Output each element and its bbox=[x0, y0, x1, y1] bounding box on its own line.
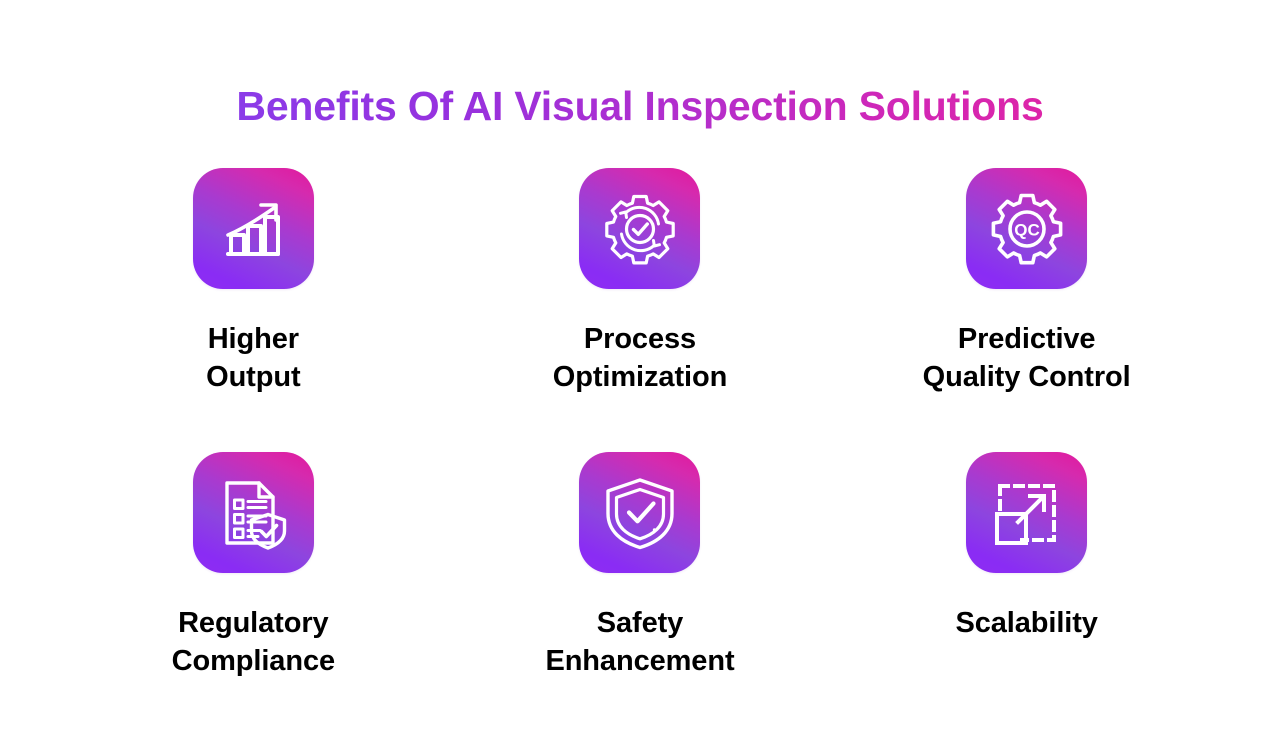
benefit-card-scalability[interactable]: Scalability bbox=[833, 452, 1220, 736]
benefit-icon-tile bbox=[966, 452, 1087, 573]
benefit-label: Predictive Quality Control bbox=[923, 320, 1131, 397]
benefit-label: Regulatory Compliance bbox=[172, 604, 335, 681]
benefits-grid: Higher Output Process Optimizatio bbox=[60, 168, 1220, 736]
document-checklist-shield-icon bbox=[216, 476, 290, 550]
benefit-icon-tile bbox=[579, 168, 700, 289]
benefit-icon-tile: QC bbox=[966, 168, 1087, 289]
benefit-label: Higher Output bbox=[206, 320, 300, 397]
benefit-card-regulatory-compliance[interactable]: Regulatory Compliance bbox=[60, 452, 447, 736]
benefit-card-higher-output[interactable]: Higher Output bbox=[60, 168, 447, 452]
gear-refresh-check-icon bbox=[602, 191, 678, 267]
benefit-card-predictive-quality-control[interactable]: QC Predictive Quality Control bbox=[833, 168, 1220, 452]
benefit-icon-tile bbox=[193, 168, 314, 289]
bar-chart-growth-arrow-icon bbox=[216, 192, 290, 266]
benefit-card-safety-enhancement[interactable]: Safety Enhancement bbox=[447, 452, 834, 736]
benefit-label: Scalability bbox=[955, 604, 1097, 642]
qc-icon-text: QC bbox=[1014, 220, 1040, 239]
benefit-icon-tile bbox=[193, 452, 314, 573]
title-container: Benefits Of AI Visual Inspection Solutio… bbox=[0, 56, 1280, 158]
page-title: Benefits Of AI Visual Inspection Solutio… bbox=[236, 83, 1043, 130]
benefit-card-process-optimization[interactable]: Process Optimization bbox=[447, 168, 834, 452]
gear-qc-icon: QC bbox=[989, 191, 1065, 267]
benefit-icon-tile bbox=[579, 452, 700, 573]
benefit-label: Process Optimization bbox=[553, 320, 727, 397]
benefit-label: Safety Enhancement bbox=[545, 604, 734, 681]
shield-check-icon bbox=[604, 476, 676, 550]
infographic-page: Benefits Of AI Visual Inspection Solutio… bbox=[0, 0, 1280, 752]
expand-scale-arrow-icon bbox=[992, 478, 1062, 548]
